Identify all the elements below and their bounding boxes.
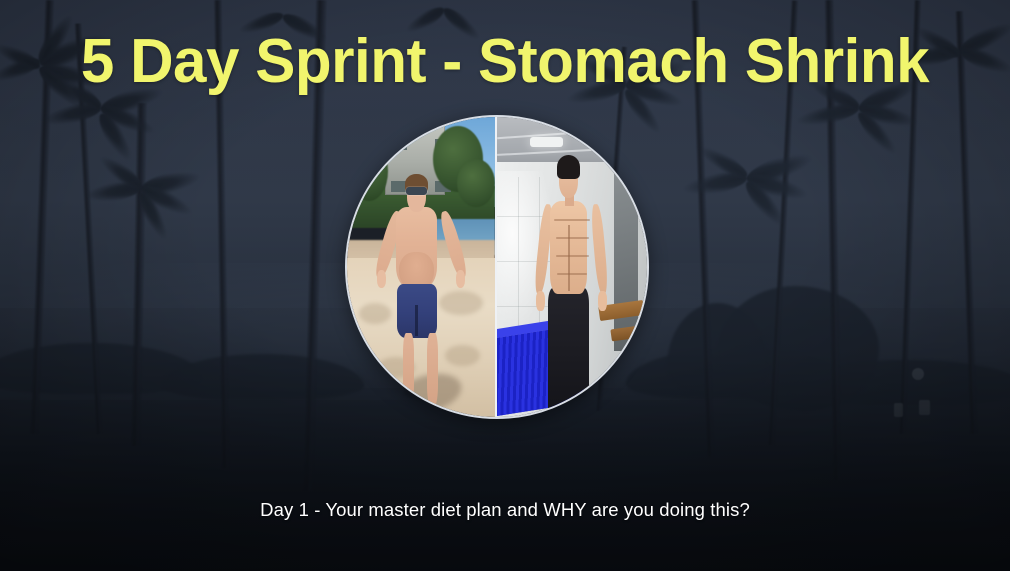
after-photo <box>497 117 647 417</box>
sand-texture <box>445 345 481 366</box>
locker-door <box>614 165 638 351</box>
after-hand-right <box>598 291 607 311</box>
abdominal-line <box>556 255 589 257</box>
wall-tile-line <box>497 261 557 262</box>
presentation-slide: 5 Day Sprint - Stomach Shrink <box>0 0 1010 571</box>
slide-title: 5 Day Sprint - Stomach Shrink <box>15 31 995 93</box>
after-hand-left <box>536 291 545 311</box>
sand-texture <box>439 291 483 315</box>
before-swim-shorts <box>397 284 437 338</box>
sunglasses-icon <box>406 187 427 195</box>
sand-texture <box>359 303 392 324</box>
abdominal-midline <box>568 225 570 291</box>
ceiling-light <box>530 137 563 147</box>
before-leg-right <box>427 333 438 405</box>
before-leg-left <box>403 333 414 405</box>
beach-tree <box>457 159 495 207</box>
before-photo <box>347 117 497 417</box>
after-black-pants <box>548 288 589 417</box>
slide-subtitle: Day 1 - Your master diet plan and WHY ar… <box>0 499 1010 521</box>
sand-texture <box>353 387 397 408</box>
abdominal-line <box>557 273 587 275</box>
after-hair <box>557 155 580 179</box>
wall-tile-line <box>518 177 519 345</box>
before-hand-right <box>456 270 466 288</box>
before-hand-left <box>377 270 387 288</box>
before-after-transformation-photo <box>345 115 649 419</box>
pectoral-line <box>554 219 590 221</box>
abdominal-line <box>556 237 589 239</box>
